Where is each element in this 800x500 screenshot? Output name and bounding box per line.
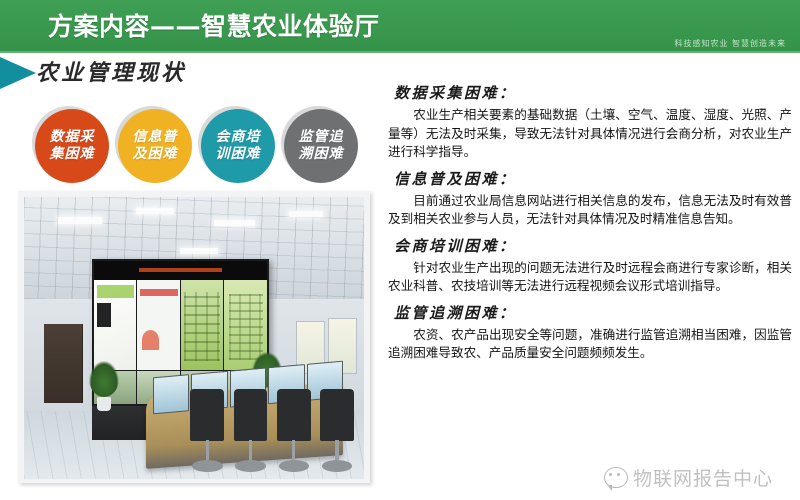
section-subtitle: 农业管理现状 <box>36 55 186 87</box>
watermark: 物联网报告中心 <box>604 462 794 492</box>
pain-point-circle-4-line2: 溯困难 <box>299 146 344 163</box>
photo-chair-base <box>279 460 310 472</box>
issue-body-4: 农资、农产品出现安全等问题，准确进行监管追溯相当困难，因监管追溯困难导致农、产品… <box>388 326 792 363</box>
right-column: 数据采集困难： 农业生产相关要素的基础数据（土壤、空气、温度、湿度、光照、产量等… <box>388 82 792 369</box>
pain-point-circle-4-line1: 监管追 <box>299 129 344 146</box>
control-room-photo-frame <box>18 191 370 483</box>
pain-point-circle-2: 信息普 及困难 <box>118 109 192 183</box>
watermark-text: 物联网报告中心 <box>633 464 773 491</box>
photo-chair <box>187 389 227 474</box>
pain-point-circle-2-line1: 信息普 <box>133 129 178 146</box>
photo-screen-grid <box>94 280 267 371</box>
photo-chair <box>230 389 270 474</box>
issue-section-4: 监管追溯困难： 农资、农产品出现安全等问题，准确进行监管追溯相当困难，因监管追溯… <box>388 302 792 363</box>
photo-plant-pot <box>97 397 110 411</box>
photo-plant-left <box>89 361 120 412</box>
photo-chair-base <box>235 460 266 472</box>
photo-chairs <box>187 389 357 474</box>
issue-body-1: 农业生产相关要素的基础数据（土壤、空气、温度、湿度、光照、产量等）无法及时采集，… <box>388 106 792 162</box>
photo-led-ticker <box>94 261 267 280</box>
photo-monitor <box>153 374 189 414</box>
page-header: 方案内容——智慧农业体验厅 科技感知农业 智慧创造未来 <box>0 0 800 53</box>
wechat-icon-dot <box>609 473 612 476</box>
photo-chair-back <box>320 389 354 441</box>
control-room-photo <box>24 197 364 479</box>
pain-point-circle-3-line2: 训困难 <box>216 146 261 163</box>
photo-ceiling-light-4 <box>289 211 323 217</box>
photo-chair-stem <box>292 440 295 460</box>
pain-point-circles: 数据采 集困难 信息普 及困难 会商培 训困难 监管追 溯困难 <box>18 95 370 187</box>
left-column: 数据采 集困难 信息普 及困难 会商培 训困难 监管追 溯困难 <box>18 95 370 490</box>
photo-screen-cell <box>94 280 136 371</box>
issue-body-2: 目前通过农业局信息网站进行相关信息的发布，信息无法及时有效普及到相关农业参与人员… <box>388 192 792 229</box>
photo-chair-stem <box>206 440 209 460</box>
issue-body-3: 针对农业生产出现的问题无法进行及时远程会商进行专家诊断，相关农业科普、农技培训等… <box>388 259 792 296</box>
photo-ceiling-light-5 <box>180 248 217 254</box>
pain-point-circle-1-line1: 数据采 <box>50 129 95 146</box>
pain-point-circle-1-line2: 集困难 <box>50 146 95 163</box>
wechat-icon-dot <box>617 473 620 476</box>
wechat-icon <box>604 467 628 488</box>
pain-point-circle-3: 会商培 训困难 <box>201 109 275 183</box>
photo-door <box>44 324 82 403</box>
pain-point-circle-3-line1: 会商培 <box>216 129 261 146</box>
photo-chair-base <box>192 460 223 472</box>
photo-chair-base <box>322 460 353 472</box>
page-title: 方案内容——智慧农业体验厅 <box>48 7 380 43</box>
photo-chair-back <box>190 389 224 441</box>
photo-chair-back <box>234 389 268 441</box>
pain-point-circle-2-line2: 及困难 <box>133 146 178 163</box>
photo-chair-stem <box>249 440 252 460</box>
photo-plant-leaves <box>89 361 120 398</box>
photo-ceiling-light-2 <box>136 208 173 214</box>
issue-heading-1: 数据采集困难： <box>394 82 792 103</box>
photo-chair-stem <box>335 440 338 460</box>
header-tagline: 科技感知农业 智慧创造未来 <box>674 38 786 49</box>
arrow-icon <box>0 57 36 89</box>
issue-heading-2: 信息普及困难： <box>394 168 792 189</box>
issue-section-1: 数据采集困难： 农业生产相关要素的基础数据（土壤、空气、温度、湿度、光照、产量等… <box>388 82 792 162</box>
pain-point-circle-1: 数据采 集困难 <box>35 109 109 183</box>
photo-chair <box>274 389 314 474</box>
photo-ceiling-light-1 <box>58 217 102 224</box>
issue-heading-3: 会商培训困难： <box>394 235 792 256</box>
issue-section-3: 会商培训困难： 针对农业生产出现的问题无法进行及时远程会商进行专家诊断，相关农业… <box>388 235 792 296</box>
pain-point-circle-4: 监管追 溯困难 <box>284 109 358 183</box>
photo-ceiling-light-3 <box>214 220 255 227</box>
photo-screen-cell <box>137 280 179 371</box>
issue-heading-4: 监管追溯困难： <box>394 302 792 323</box>
issue-section-2: 信息普及困难： 目前通过农业局信息网站进行相关信息的发布，信息无法及时有效普及到… <box>388 168 792 229</box>
photo-chair <box>317 389 357 474</box>
photo-screen-cell <box>181 280 223 371</box>
photo-chair-back <box>277 389 311 441</box>
